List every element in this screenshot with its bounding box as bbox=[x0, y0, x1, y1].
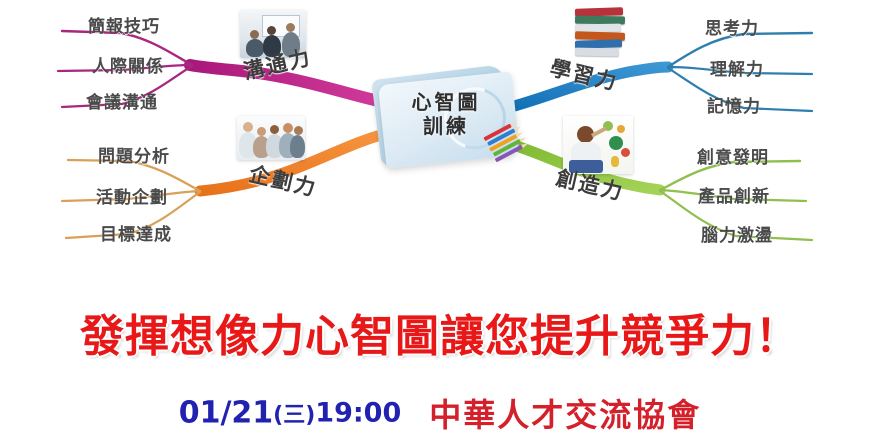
headline-text: 發揮想像力心智圖讓您提升競爭力！ bbox=[0, 300, 880, 364]
event-weekday: (三) bbox=[273, 403, 315, 428]
event-date: 01/21 bbox=[179, 396, 273, 431]
event-info-line: 01/21(三)19:00中華人才交流協會 bbox=[0, 390, 880, 436]
leaf-label-planning-1[interactable]: 問題分析 bbox=[98, 142, 170, 167]
leaf-label-communication-3[interactable]: 會議溝通 bbox=[86, 88, 158, 113]
leaf-label-creativity-2[interactable]: 產品創新 bbox=[698, 182, 770, 207]
mindmap-diagram: 心智圖 訓練 bbox=[0, 0, 880, 290]
leaf-label-learning-2[interactable]: 理解力 bbox=[710, 55, 764, 80]
stacked-books-icon bbox=[575, 8, 631, 54]
organizer-name: 中華人才交流協會 bbox=[429, 396, 701, 434]
leaf-label-creativity-3[interactable]: 腦力激盪 bbox=[701, 221, 773, 246]
leaf-label-communication-1[interactable]: 簡報技巧 bbox=[88, 12, 160, 37]
leaf-label-learning-1[interactable]: 思考力 bbox=[705, 14, 759, 39]
center-node-line1: 心智圖 bbox=[370, 90, 522, 114]
center-node[interactable]: 心智圖 訓練 bbox=[370, 68, 522, 166]
leaf-label-learning-3[interactable]: 記憶力 bbox=[707, 92, 761, 117]
leaf-label-planning-2[interactable]: 活動企劃 bbox=[96, 183, 168, 208]
event-time: 19:00 bbox=[315, 398, 401, 429]
poster-canvas: 心智圖 訓練 bbox=[0, 0, 880, 440]
leaf-label-creativity-1[interactable]: 創意發明 bbox=[697, 143, 769, 168]
leaf-label-communication-2[interactable]: 人際關係 bbox=[92, 52, 164, 77]
team-discussion-photo bbox=[237, 116, 305, 160]
leaf-label-planning-3[interactable]: 目標達成 bbox=[100, 220, 172, 245]
